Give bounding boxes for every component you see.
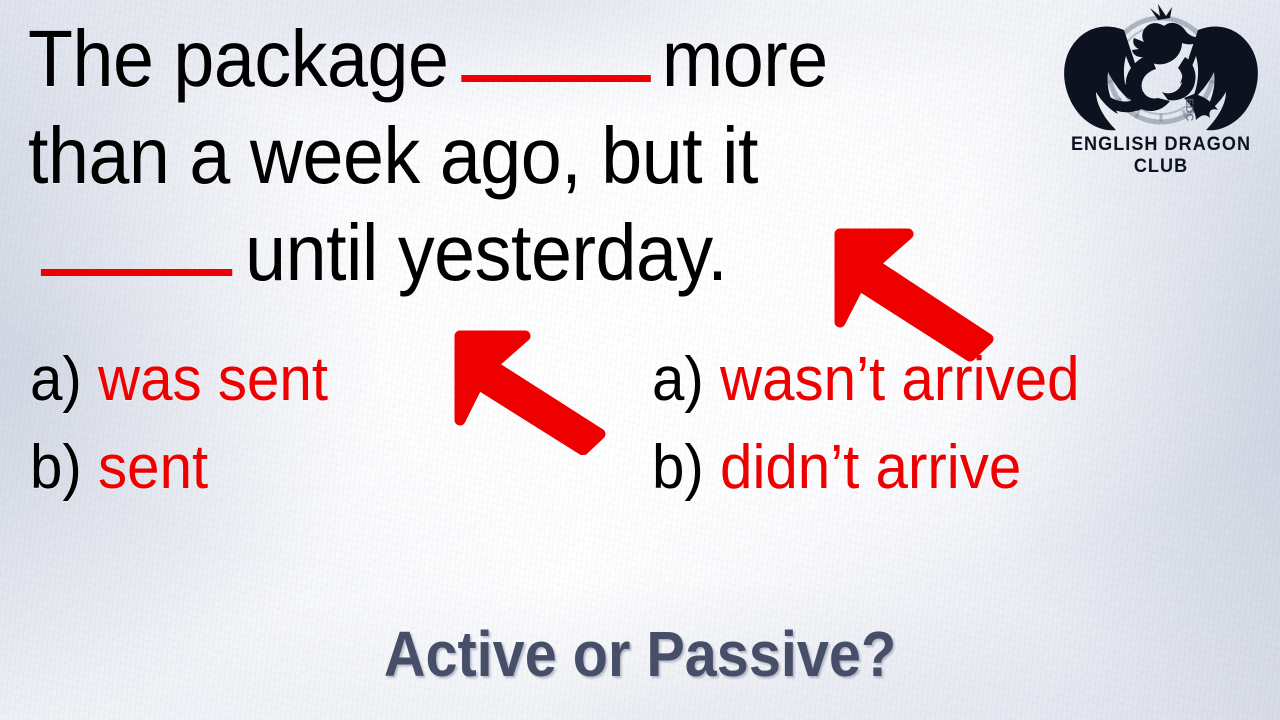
option-right-b-key: b)	[652, 433, 704, 502]
slide-canvas: The packagemore than a week ago, but it …	[0, 0, 1280, 720]
question-line-1: The packagemore	[28, 10, 957, 107]
dragon-emblem-icon: EDC	[1046, 2, 1276, 142]
arrow-to-right-blank-icon	[820, 208, 1020, 368]
question-line3-after-blank: until yesterday.	[245, 208, 727, 297]
option-left-a-value: was sent	[98, 345, 328, 414]
options-column-left: a) was sent b) sent	[30, 336, 328, 512]
option-left-b-key: b)	[30, 433, 82, 502]
footer-prompt: Active or Passive?	[64, 617, 1216, 691]
blank-1	[461, 75, 651, 82]
question-line1-before-blank: The package	[28, 14, 448, 103]
arrow-to-left-blank-icon	[440, 310, 630, 460]
question-line-3: until yesterday.	[28, 204, 957, 301]
svg-text:EDC: EDC	[1183, 98, 1195, 121]
option-left-b[interactable]: b) sent	[30, 424, 328, 512]
option-left-a[interactable]: a) was sent	[30, 336, 328, 424]
option-right-b-value: didn’t arrive	[720, 433, 1021, 502]
question-line-2: than a week ago, but it	[28, 107, 957, 204]
option-left-b-value: sent	[98, 433, 208, 502]
blank-2	[41, 269, 232, 276]
logo-text: ENGLISH DRAGON CLUB	[1052, 134, 1271, 178]
logo: EDC ENGLISH DRAGON CLUB	[1046, 2, 1276, 174]
option-right-b[interactable]: b) didn’t arrive	[652, 424, 1080, 512]
question-line1-after-blank: more	[662, 14, 828, 103]
option-right-a-key: a)	[652, 345, 704, 414]
question-line2-text: than a week ago, but it	[28, 111, 758, 200]
option-left-a-key: a)	[30, 345, 82, 414]
question-text: The packagemore than a week ago, but it …	[28, 10, 957, 301]
